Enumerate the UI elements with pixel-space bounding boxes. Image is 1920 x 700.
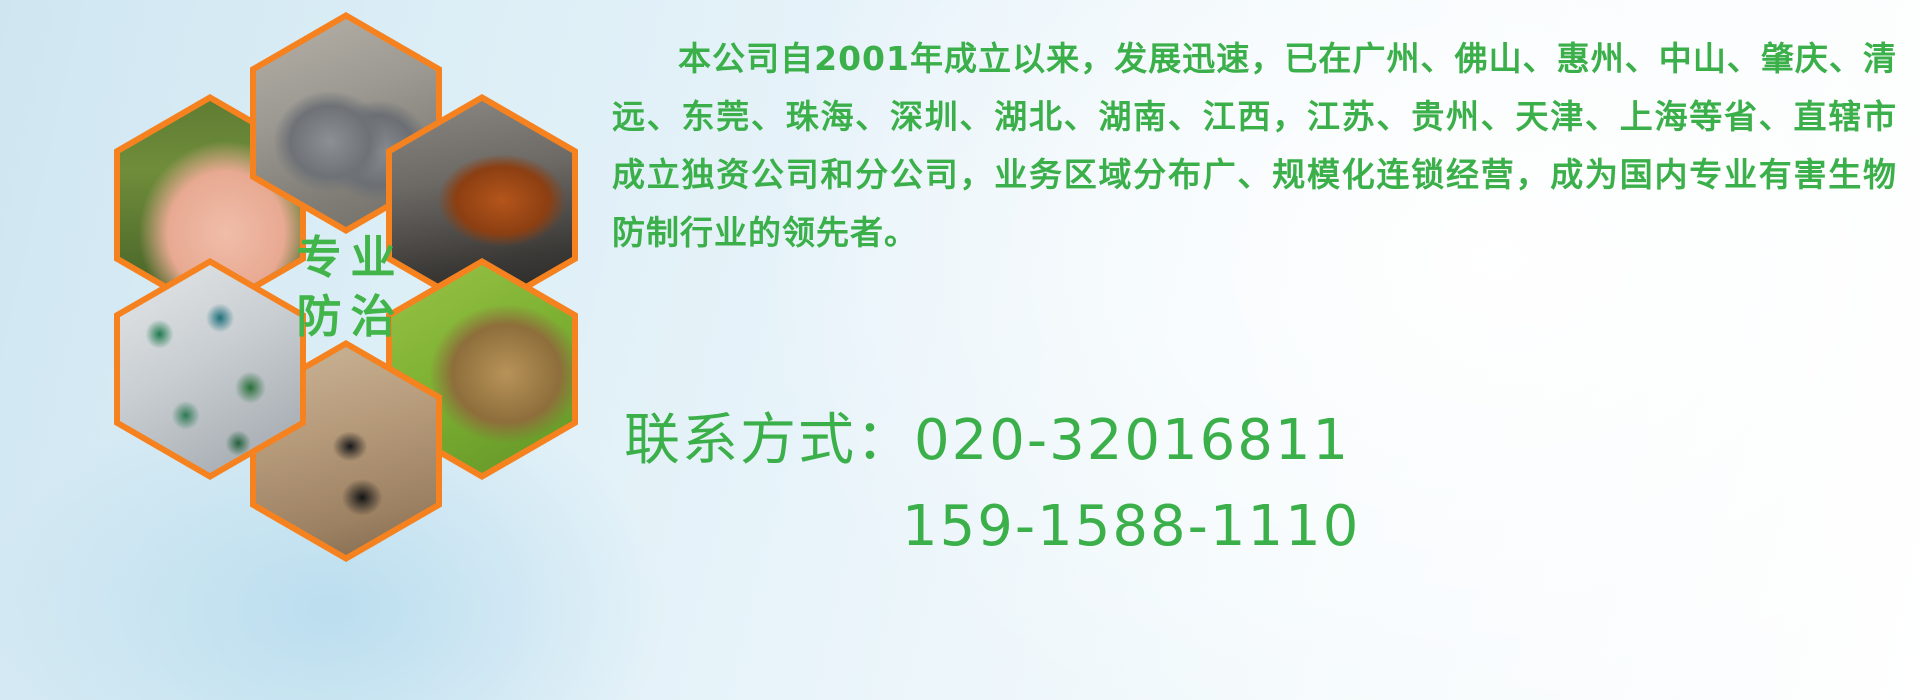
contact-phone-secondary[interactable]: 159-1588-1110 [612,484,1902,570]
honeycomb-collage: 专业 防治 [82,6,602,566]
contact-block: 联系方式：020-32016811 159-1588-1110 [612,398,1902,570]
company-intro-paragraph: 本公司自2001年成立以来，发展迅速，已在广州、佛山、惠州、中山、肇庆、清远、东… [612,30,1897,262]
contact-phone-primary[interactable]: 联系方式：020-32016811 [612,398,1902,484]
copy-block: 本公司自2001年成立以来，发展迅速，已在广州、佛山、惠州、中山、肇庆、清远、东… [612,30,1897,262]
honeycomb-center-label: 专业 防治 [250,176,442,398]
honeycomb-label-line1: 专业 [287,235,404,280]
pest-control-banner: 专业 防治 本公司自2001年成立以来，发展迅速，已在广州、佛山、惠州、中山、肇… [0,0,1920,700]
honeycomb-label-line2: 防治 [287,294,404,339]
